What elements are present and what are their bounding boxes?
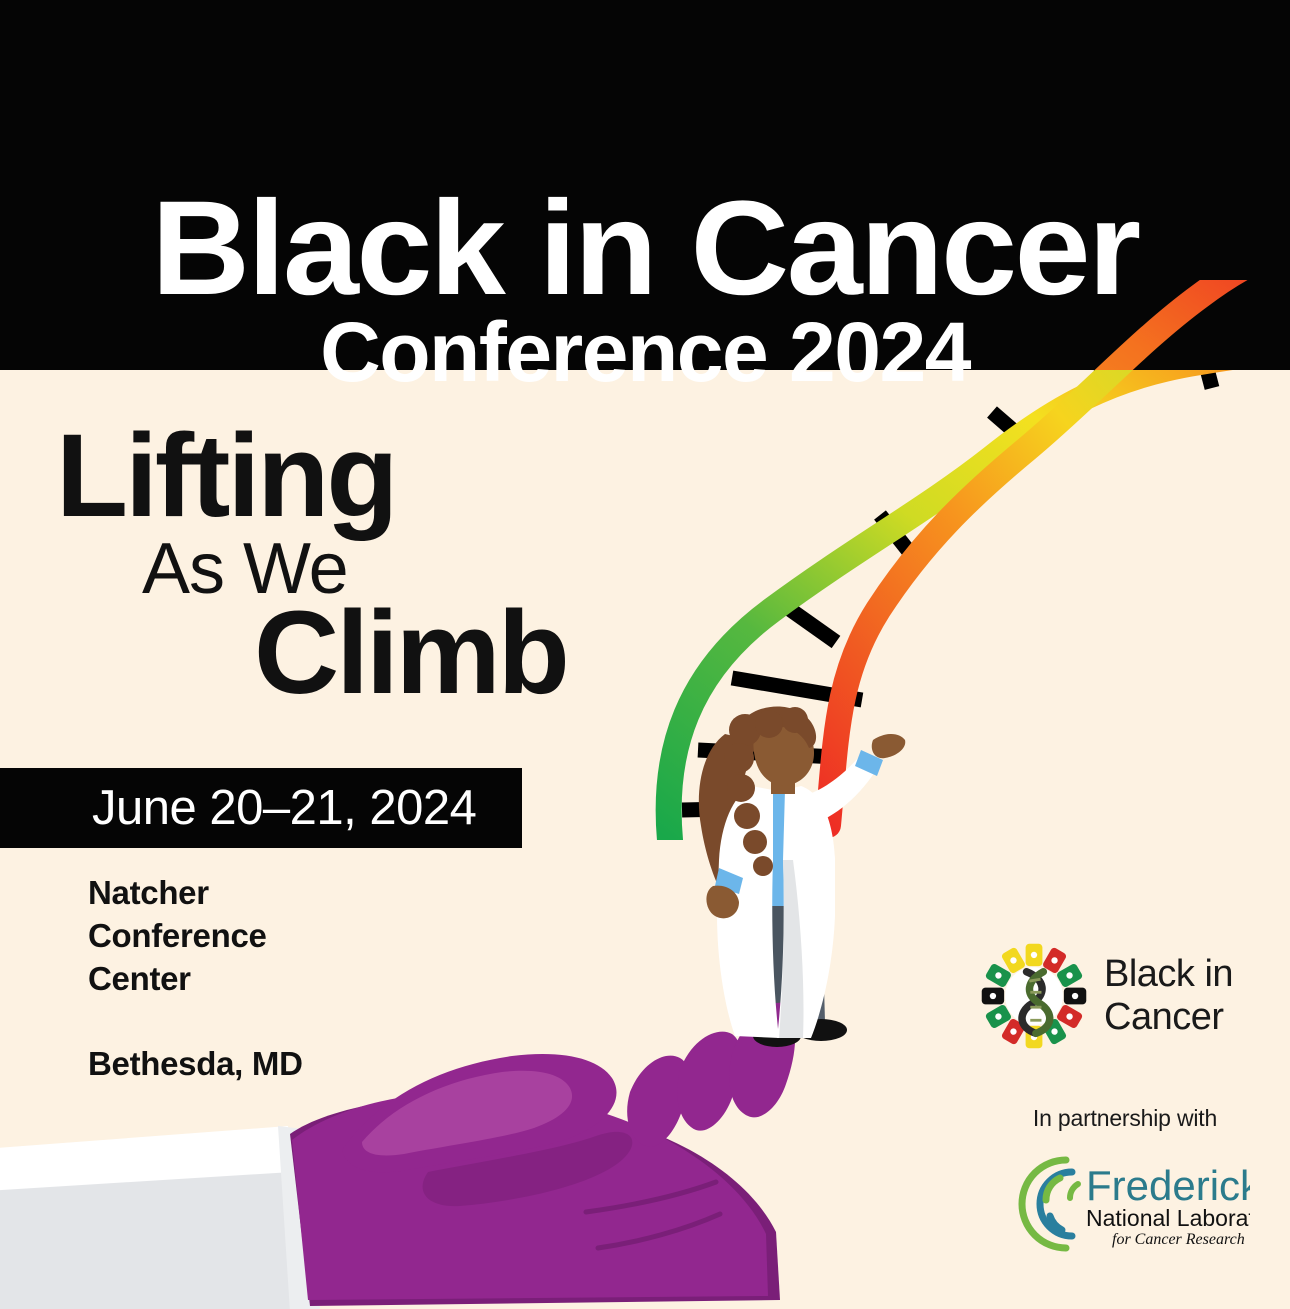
hand-raised <box>872 734 906 758</box>
fnl-arc-mark <box>1022 1160 1078 1248</box>
venue-line-3: Center <box>88 958 303 1001</box>
conference-poster: Black in Cancer Conference 2024 Lifting … <box>0 0 1290 1309</box>
tagline-line-lifting: Lifting <box>56 422 716 531</box>
scientist-figure-illustration <box>655 700 925 1100</box>
bic-wordmark-line-1: Black in <box>1104 953 1233 996</box>
event-dates: June 20–21, 2024 <box>92 780 476 836</box>
page-subtitle: Conference 2024 <box>0 310 1290 394</box>
fnl-line-3: for Cancer Research <box>1112 1231 1245 1248</box>
venue-line-2: Conference <box>88 915 303 958</box>
bic-wordmark-line-2: Cancer <box>1104 996 1233 1039</box>
partnership-block: In partnership with Frederick National L… <box>1000 1105 1250 1263</box>
fnl-line-1: Frederick <box>1086 1162 1250 1209</box>
partnership-label: In partnership with <box>1000 1105 1250 1132</box>
page-title: Black in Cancer <box>0 182 1290 316</box>
event-date-banner: June 20–21, 2024 <box>0 768 522 848</box>
tagline-block: Lifting As We Climb <box>56 422 716 709</box>
venue-line-1: Natcher <box>88 872 303 915</box>
black-in-cancer-wordmark: Black in Cancer <box>1104 953 1233 1038</box>
black-in-cancer-ring-icon <box>978 940 1090 1052</box>
lab-coat-sleeve <box>0 1126 320 1309</box>
frederick-national-laboratory-logo: Frederick National Laboratory for Cancer… <box>1000 1138 1250 1258</box>
black-in-cancer-logo: Black in Cancer <box>978 940 1248 1052</box>
tagline-line-climb: Climb <box>254 597 716 709</box>
fnl-line-2: National Laboratory <box>1086 1205 1250 1231</box>
